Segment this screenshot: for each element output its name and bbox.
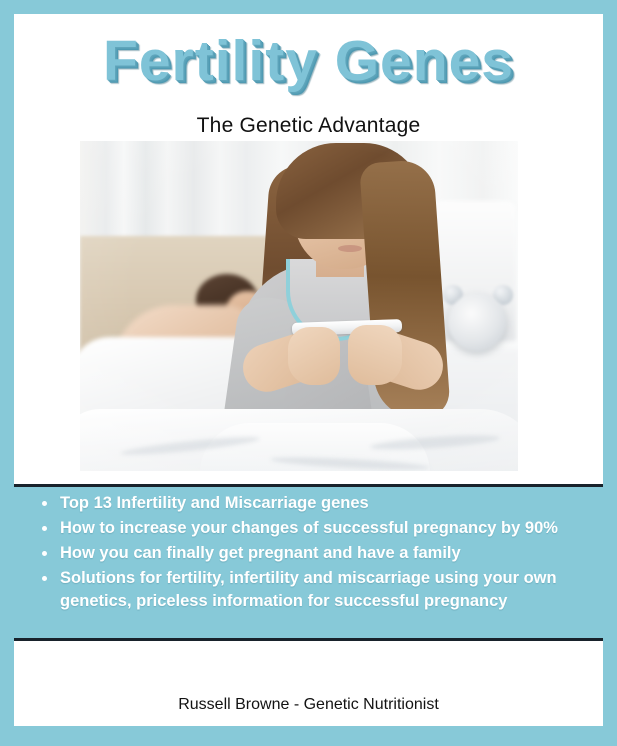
list-item: How to increase your changes of successf… [38,517,589,540]
list-item: How you can finally get pregnant and hav… [38,542,589,565]
footer-white-panel: Russell Browne - Genetic Nutritionist [14,638,603,726]
subtitle: The Genetic Advantage [14,114,603,138]
list-item: Top 13 Infertility and Miscarriage genes [38,492,589,515]
cover-photo [80,141,518,471]
photo-soft-light-overlay [80,141,518,471]
benefits-list: Top 13 Infertility and Miscarriage genes… [14,492,603,615]
page-title: Fertility Genes [14,32,603,92]
list-item: Solutions for fertility, infertility and… [38,567,589,613]
top-white-panel: Fertility Genes The Genetic Advantage [14,14,603,487]
book-cover: Fertility Genes The Genetic Advantage [0,0,617,746]
author-byline: Russell Browne - Genetic Nutritionist [14,696,603,714]
